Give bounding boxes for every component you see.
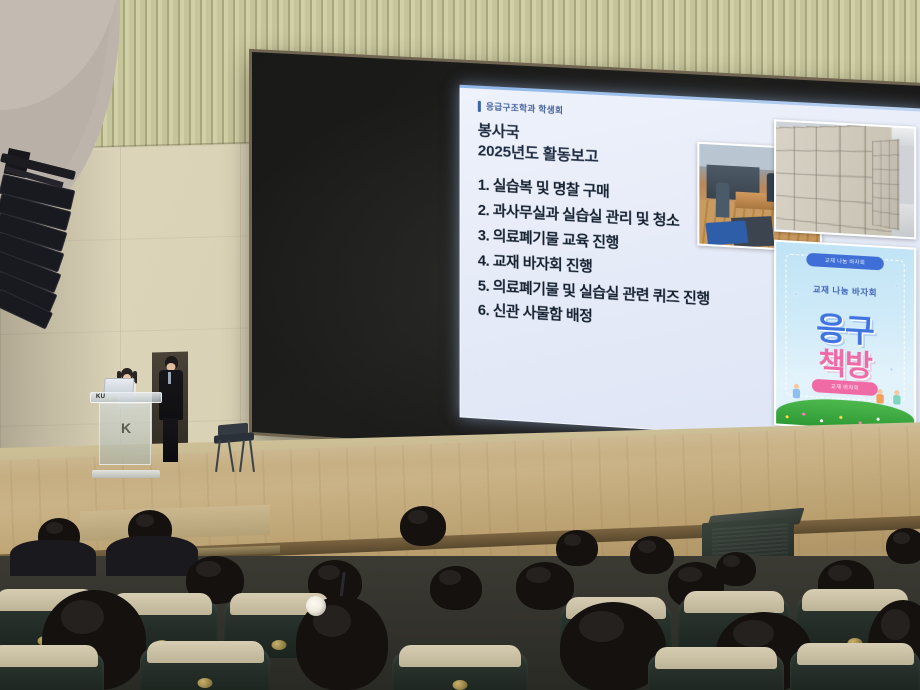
projection-screen[interactable]: 응급구조학과 학생회 봉사국 2025년도 활동보고 1. 실습복 및 명찰 구… bbox=[252, 52, 920, 477]
poster-cta-label: 교재 바자회 bbox=[831, 383, 859, 392]
seat-emblem bbox=[272, 640, 287, 650]
new-building-lockers-photo bbox=[774, 119, 916, 239]
audience-head bbox=[516, 562, 574, 610]
poster-top-pill-label: 교재 나눔 바자회 bbox=[825, 257, 865, 266]
hair-scrunchie bbox=[306, 596, 326, 616]
speaker-cabinet-stack bbox=[0, 180, 94, 330]
list-item[interactable] bbox=[648, 654, 784, 690]
list-item[interactable] bbox=[140, 648, 270, 690]
poster-character-icon bbox=[893, 390, 900, 408]
list-item[interactable] bbox=[392, 652, 528, 690]
badge-accent-bar bbox=[478, 100, 481, 111]
book-bazaar-poster: 교재 나눔 바자회 교재 나눔 바자회 응구 책방 교재 바자회 ✦ ✦ ✦ bbox=[774, 240, 916, 435]
audience-head bbox=[630, 536, 674, 574]
audience-shoulder bbox=[106, 536, 198, 576]
seat-emblem bbox=[453, 680, 468, 690]
audience-head bbox=[400, 506, 446, 546]
list-item[interactable] bbox=[0, 652, 104, 690]
poster-character-icon bbox=[876, 389, 883, 407]
line-array-speaker-icon bbox=[0, 150, 118, 330]
badge-label: 응급구조학과 학생회 bbox=[486, 100, 563, 116]
podium-nameplate: KU bbox=[96, 394, 105, 400]
poster-character-icon bbox=[793, 384, 800, 402]
folding-chair[interactable] bbox=[214, 424, 256, 472]
sparkle-icon: ✦ bbox=[893, 281, 900, 291]
podium-base bbox=[92, 470, 160, 478]
sparkle-icon: ✦ bbox=[793, 290, 800, 300]
audience-shoulder bbox=[10, 540, 96, 576]
projected-slide: 응급구조학과 학생회 봉사국 2025년도 활동보고 1. 실습복 및 명찰 구… bbox=[460, 85, 920, 448]
list-item[interactable] bbox=[790, 650, 920, 690]
auditorium-scene: 응급구조학과 학생회 봉사국 2025년도 활동보고 1. 실습복 및 명찰 구… bbox=[0, 0, 920, 690]
podium-logo-mark: K bbox=[121, 420, 131, 436]
seat-emblem bbox=[198, 678, 213, 688]
audience-head bbox=[556, 530, 598, 566]
audience-head bbox=[886, 528, 920, 564]
sparkle-icon: ✦ bbox=[888, 365, 895, 375]
audience-head bbox=[430, 566, 482, 610]
lectern-podium[interactable]: KU K bbox=[90, 392, 162, 478]
